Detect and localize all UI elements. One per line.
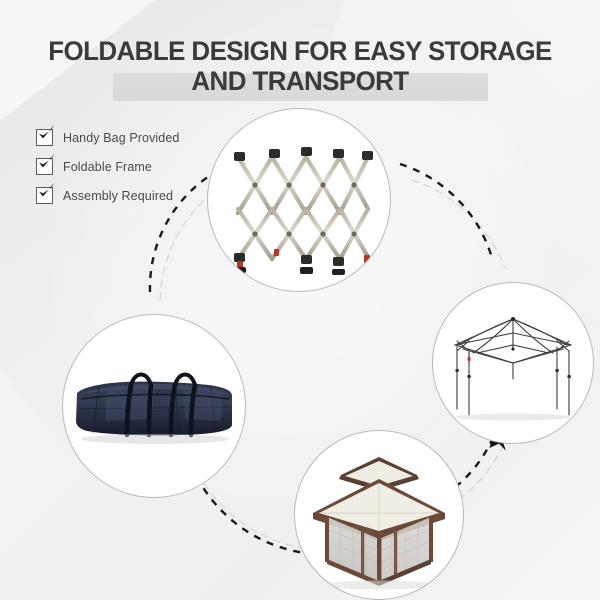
- circle-assembled-gazebo: [294, 430, 464, 600]
- assembled-gazebo-photo: [295, 431, 463, 599]
- circle-frame-skeleton: [432, 282, 594, 444]
- circle-folded-frame: [207, 108, 391, 292]
- checkbox-checked-icon: [36, 158, 53, 175]
- feature-item-label: Assembly Required: [63, 189, 173, 203]
- frame-skeleton-photo: [433, 283, 593, 443]
- feature-item-label: Handy Bag Provided: [63, 131, 179, 145]
- feature-list: Handy Bag Provided Foldable Frame Assemb…: [36, 129, 179, 216]
- feature-item-assembly-required: Assembly Required: [36, 187, 179, 204]
- feature-item-handy-bag: Handy Bag Provided: [36, 129, 179, 146]
- feature-item-foldable-frame: Foldable Frame: [36, 158, 179, 175]
- circle-carry-bag: [62, 314, 246, 498]
- feature-item-label: Foldable Frame: [63, 160, 152, 174]
- carry-bag-photo: [63, 315, 245, 497]
- page-title: FOLDABLE DESIGN FOR EASY STORAGE AND TRA…: [12, 36, 588, 96]
- infographic-canvas: FOLDABLE DESIGN FOR EASY STORAGE AND TRA…: [0, 0, 600, 600]
- page-title-line-2: AND TRANSPORT: [12, 66, 588, 96]
- page-title-line-1: FOLDABLE DESIGN FOR EASY STORAGE: [12, 36, 588, 66]
- checkbox-checked-icon: [36, 129, 53, 146]
- checkbox-checked-icon: [36, 187, 53, 204]
- folded-frame-photo: [208, 109, 390, 291]
